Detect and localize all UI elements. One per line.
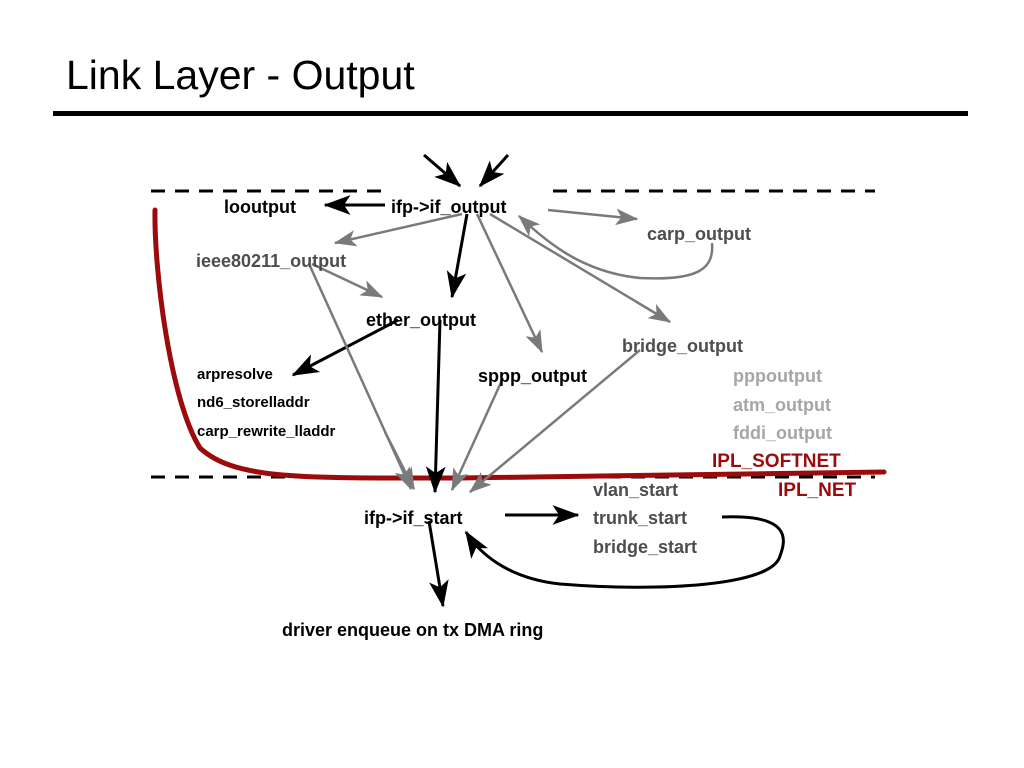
node-carp-output[interactable]: carp_output xyxy=(647,225,751,243)
label-ipl-softnet: IPL_SOFTNET xyxy=(712,452,841,471)
node-ifp-if-output[interactable]: ifp->if_output xyxy=(391,198,506,216)
node-nd6-storelladdr[interactable]: nd6_storelladdr xyxy=(197,395,310,410)
slide-root: Link Layer - Output xyxy=(0,0,1024,768)
node-driver-enqueue[interactable]: driver enqueue on tx DMA ring xyxy=(282,621,543,639)
node-ether-output[interactable]: ether_output xyxy=(366,311,476,329)
node-trunk-start[interactable]: trunk_start xyxy=(593,509,687,527)
edge-sppp-ifstart xyxy=(452,378,503,490)
edge-in-right xyxy=(480,155,508,186)
node-atm-output[interactable]: atm_output xyxy=(733,396,831,414)
edge-ifoutput-bridge xyxy=(490,214,670,322)
node-ifp-if-start[interactable]: ifp->if_start xyxy=(364,509,463,527)
node-vlan-start[interactable]: vlan_start xyxy=(593,481,678,499)
node-arpresolve[interactable]: arpresolve xyxy=(197,367,273,382)
node-bridge-start[interactable]: bridge_start xyxy=(593,538,697,556)
node-fddi-output[interactable]: fddi_output xyxy=(733,424,832,442)
node-carp-rewrite-lladdr[interactable]: carp_rewrite_lladdr xyxy=(197,424,335,439)
node-pppoutput[interactable]: pppoutput xyxy=(733,367,822,385)
node-looutput[interactable]: looutput xyxy=(224,198,296,216)
edge-ether-ifstart xyxy=(435,320,440,492)
diagram-canvas: looutput ifp->if_output carp_output ieee… xyxy=(0,0,1024,768)
node-sppp-output[interactable]: sppp_output xyxy=(478,367,587,385)
edge-in-left xyxy=(424,155,460,186)
node-ieee80211-output[interactable]: ieee80211_output xyxy=(196,252,346,270)
edge-ifstart-driver xyxy=(429,521,443,606)
edge-ifoutput-ieee80211 xyxy=(335,214,462,243)
edge-ifoutput-ether xyxy=(452,214,467,297)
edge-ifoutput-carp xyxy=(548,210,637,219)
node-bridge-output[interactable]: bridge_output xyxy=(622,337,743,355)
label-ipl-net: IPL_NET xyxy=(778,481,856,500)
edge-ifoutput-sppp xyxy=(477,214,542,352)
